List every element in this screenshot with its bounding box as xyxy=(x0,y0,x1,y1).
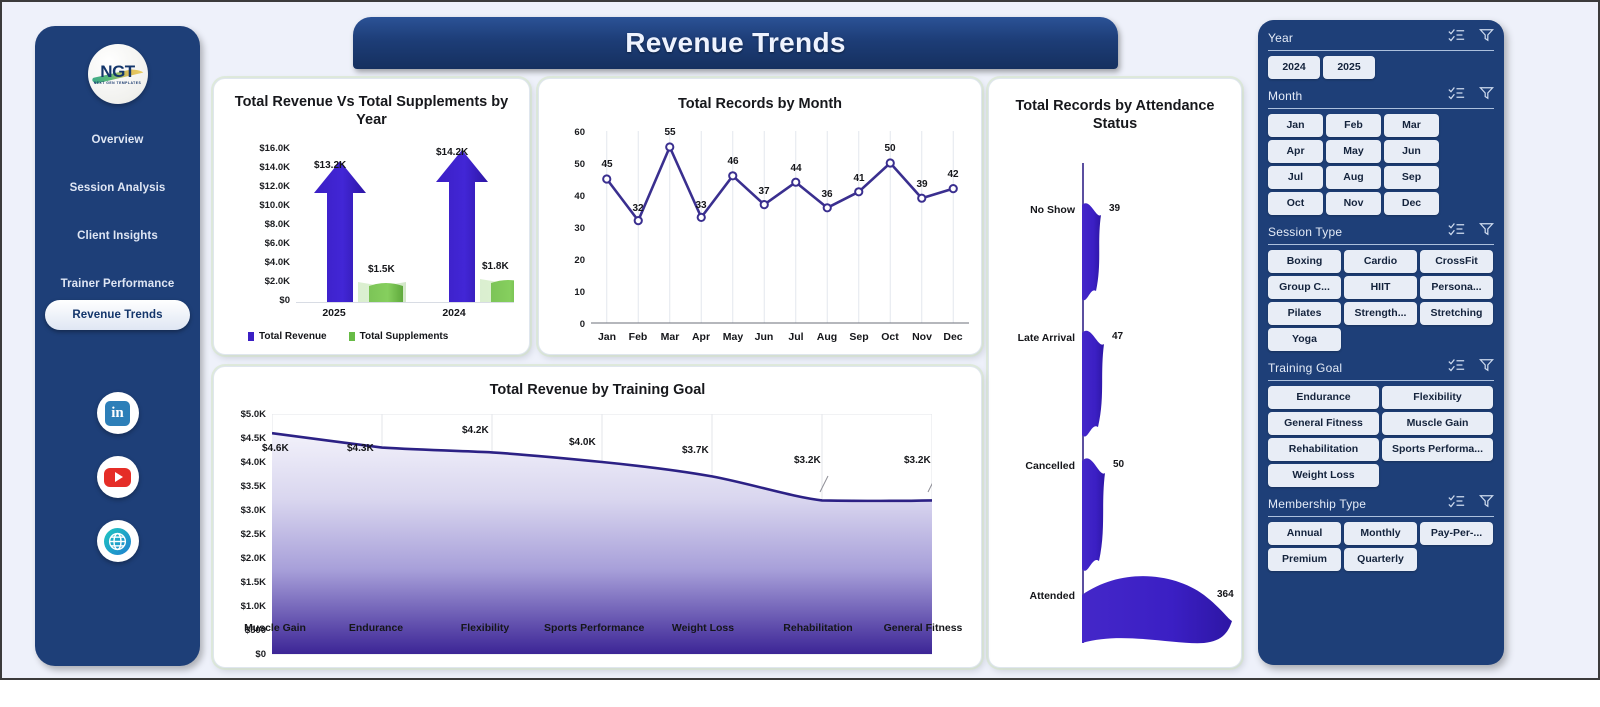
point-value-label: 44 xyxy=(785,163,807,174)
chart-title-attendance-status: Total Records by Attendance Status xyxy=(989,97,1241,133)
filter-chip-year[interactable]: 2025 xyxy=(1323,56,1375,79)
x-category-label: Mar xyxy=(655,331,685,343)
filter-chip-session-type[interactable]: Group C... xyxy=(1268,276,1341,299)
filter-header-month: Month xyxy=(1268,86,1494,109)
x-category-label: Rehabilitation xyxy=(763,622,873,634)
x-category-label: Sep xyxy=(844,331,874,343)
legend-item-total-supplements[interactable]: Total Supplements xyxy=(349,331,449,342)
filter-chip-session-type[interactable]: CrossFit xyxy=(1420,250,1493,273)
y-category-label: No Show xyxy=(995,204,1075,216)
filter-chip-session-type[interactable]: Cardio xyxy=(1344,250,1417,273)
filter-chip-membership-type[interactable]: Quarterly xyxy=(1344,548,1417,571)
filter-title-training-goal: Training Goal xyxy=(1268,361,1342,375)
point-value-label: 41 xyxy=(848,173,870,184)
filter-chip-training-goal[interactable]: Endurance xyxy=(1268,386,1379,409)
chart-card-records-by-month: Total Records by Month 60 50 40 30 20 10… xyxy=(538,78,982,355)
clear-filter-icon[interactable] xyxy=(1479,494,1494,513)
filter-header-training-goal: Training Goal xyxy=(1268,358,1494,381)
filter-header-membership-type: Membership Type xyxy=(1268,494,1494,517)
filter-chip-month[interactable]: Mar xyxy=(1384,114,1439,137)
filter-chip-membership-type[interactable]: Premium xyxy=(1268,548,1341,571)
y-tick: $3.5K xyxy=(216,481,266,492)
filter-header-year: Year xyxy=(1268,28,1494,51)
bar-value-label: 50 xyxy=(1113,459,1124,470)
y-tick: $4.0K xyxy=(228,257,290,268)
y-tick: $0 xyxy=(216,649,266,660)
filter-chip-month[interactable]: Nov xyxy=(1326,192,1381,215)
filter-title-session-type: Session Type xyxy=(1268,225,1342,239)
y-category-label: Attended xyxy=(995,590,1075,602)
y-tick: 60 xyxy=(545,127,585,138)
filter-options-membership-type: Annual Monthly Pay-Per-... Premium Quart… xyxy=(1268,522,1494,571)
bar-value-label: 364 xyxy=(1217,589,1234,600)
bar-value-label: 47 xyxy=(1112,331,1123,342)
point-value-label: 33 xyxy=(690,200,712,211)
chart-title-revenue-by-training-goal: Total Revenue by Training Goal xyxy=(214,381,981,399)
multi-select-icon[interactable] xyxy=(1448,222,1465,241)
point-value-label: $4.3K xyxy=(347,443,374,454)
point-value-label: 50 xyxy=(879,143,901,154)
filter-title-year: Year xyxy=(1268,31,1293,45)
linkedin-glyph: in xyxy=(105,401,130,426)
filter-header-session-type: Session Type xyxy=(1268,222,1494,245)
y-category-label: Cancelled xyxy=(995,460,1075,472)
filter-chip-training-goal[interactable]: Flexibility xyxy=(1382,386,1493,409)
filter-chip-month[interactable]: May xyxy=(1326,140,1381,163)
filter-chip-membership-type[interactable]: Monthly xyxy=(1344,522,1417,545)
x-category-label: Jul xyxy=(781,331,811,343)
filter-panel: Year 2024 2025 Month xyxy=(1258,20,1504,665)
y-tick: $4.5K xyxy=(216,433,266,444)
y-tick: $1.0K xyxy=(216,601,266,612)
clear-filter-icon[interactable] xyxy=(1479,222,1494,241)
legend-label: Total Supplements xyxy=(360,331,449,342)
y-tick: $2.5K xyxy=(216,529,266,540)
chart-legend: Total Revenue Total Supplements xyxy=(248,331,448,342)
y-tick: 30 xyxy=(545,223,585,234)
youtube-glyph xyxy=(104,468,131,487)
app-logo: NGT NEXT GEN TEMPLATES xyxy=(88,44,148,104)
sidebar-item-client-insights[interactable]: Client Insights xyxy=(35,230,200,242)
bar-value-label: 39 xyxy=(1109,203,1120,214)
bar-value-label: $1.5K xyxy=(368,264,395,275)
y-tick: 10 xyxy=(545,287,585,298)
filter-chip-month[interactable]: Jan xyxy=(1268,114,1323,137)
x-category-label: Endurance xyxy=(327,622,425,634)
bar-value-label: $1.8K xyxy=(482,261,509,272)
x-category-label: 2024 xyxy=(424,307,484,319)
filter-chip-session-type[interactable]: Stretching xyxy=(1420,302,1493,325)
logo-subtext: NEXT GEN TEMPLATES xyxy=(94,81,142,85)
y-tick: $16.0K xyxy=(228,143,290,154)
point-value-label: 46 xyxy=(722,156,744,167)
point-value-label: 55 xyxy=(659,127,681,138)
filter-chip-session-type[interactable]: Strength... xyxy=(1344,302,1417,325)
legend-item-total-revenue[interactable]: Total Revenue xyxy=(248,331,327,342)
sidebar-item-session-analysis[interactable]: Session Analysis xyxy=(35,182,200,194)
multi-select-icon[interactable] xyxy=(1448,494,1465,513)
x-category-label: Muscle Gain xyxy=(226,622,324,634)
legend-swatch xyxy=(349,332,355,341)
filter-chip-membership-type[interactable]: Pay-Per-... xyxy=(1420,522,1493,545)
filter-chip-training-goal[interactable]: General Fitness xyxy=(1268,412,1379,435)
page-header: Revenue Trends xyxy=(353,17,1118,69)
filter-chip-month[interactable]: Jun xyxy=(1384,140,1439,163)
chart-card-revenue-vs-supplements: Total Revenue Vs Total Supplements by Ye… xyxy=(213,78,530,355)
y-tick: $5.0K xyxy=(216,409,266,420)
chart-title-records-by-month: Total Records by Month xyxy=(539,95,981,113)
point-value-label: 32 xyxy=(627,203,649,214)
x-category-label: Dec xyxy=(938,331,968,343)
point-value-label: $4.2K xyxy=(462,425,489,436)
website-icon[interactable] xyxy=(97,520,139,562)
sidebar: NGT NEXT GEN TEMPLATES Overview Session … xyxy=(35,26,200,666)
youtube-icon[interactable] xyxy=(97,456,139,498)
sidebar-item-revenue-trends[interactable]: Revenue Trends xyxy=(45,300,190,330)
filter-chip-month[interactable]: Aug xyxy=(1326,166,1381,189)
point-value-label: $3.7K xyxy=(682,445,709,456)
filter-chip-session-type[interactable]: Pilates xyxy=(1268,302,1341,325)
multi-select-icon[interactable] xyxy=(1448,28,1465,47)
y-tick: $2.0K xyxy=(228,276,290,287)
clear-filter-icon[interactable] xyxy=(1479,28,1494,47)
y-category-label: Late Arrival xyxy=(995,332,1075,344)
filter-chip-session-type[interactable]: Boxing xyxy=(1268,250,1341,273)
line-series xyxy=(591,131,969,327)
point-value-label: $3.2K xyxy=(904,455,931,466)
dashboard-inner: NGT NEXT GEN TEMPLATES Overview Session … xyxy=(10,8,1590,674)
y-tick: 50 xyxy=(545,159,585,170)
x-category-label: Jun xyxy=(749,331,779,343)
y-tick: $1.5K xyxy=(216,577,266,588)
filter-chip-training-goal[interactable]: Sports Performa... xyxy=(1382,438,1493,461)
filter-chip-month[interactable]: Dec xyxy=(1384,192,1439,215)
filter-chip-year[interactable]: 2024 xyxy=(1268,56,1320,79)
point-value-label: 39 xyxy=(911,179,933,190)
x-category-label: Flexibility xyxy=(436,622,534,634)
point-value-label: 42 xyxy=(942,169,964,180)
x-category-label: 2025 xyxy=(304,307,364,319)
multi-select-icon[interactable] xyxy=(1448,86,1465,105)
y-tick: $6.0K xyxy=(228,238,290,249)
multi-select-icon[interactable] xyxy=(1448,358,1465,377)
filter-chip-training-goal[interactable]: Muscle Gain xyxy=(1382,412,1493,435)
y-tick: 20 xyxy=(545,255,585,266)
y-tick: $0 xyxy=(228,295,290,306)
x-category-label: Weight Loss xyxy=(654,622,752,634)
sidebar-item-overview[interactable]: Overview xyxy=(35,134,200,146)
y-tick: $4.0K xyxy=(216,457,266,468)
filter-chip-session-type[interactable]: Yoga xyxy=(1268,328,1341,351)
y-tick: $12.0K xyxy=(228,181,290,192)
point-value-label: 37 xyxy=(753,186,775,197)
y-tick: $10.0K xyxy=(228,200,290,211)
clear-filter-icon[interactable] xyxy=(1479,86,1494,105)
filter-options-session-type: Boxing Cardio CrossFit Group C... HIIT P… xyxy=(1268,250,1494,351)
legend-swatch xyxy=(248,332,254,341)
point-value-label: 45 xyxy=(596,159,618,170)
x-category-label: Sports Performance xyxy=(544,622,642,634)
bar-value-label: $13.2K xyxy=(314,160,346,171)
x-category-label: May xyxy=(718,331,748,343)
filter-title-month: Month xyxy=(1268,89,1302,103)
filter-chip-training-goal[interactable]: Weight Loss xyxy=(1268,464,1379,487)
y-tick: $14.0K xyxy=(228,162,290,173)
filter-chip-month[interactable]: Feb xyxy=(1326,114,1381,137)
y-tick: 40 xyxy=(545,191,585,202)
dashboard-canvas: NGT NEXT GEN TEMPLATES Overview Session … xyxy=(0,0,1600,680)
flag-bars xyxy=(1082,163,1232,645)
y-tick: $8.0K xyxy=(228,219,290,230)
x-category-label: General Fitness xyxy=(869,622,977,634)
x-category-label: Feb xyxy=(623,331,653,343)
filter-chip-membership-type[interactable]: Annual xyxy=(1268,522,1341,545)
filter-chip-month[interactable]: Oct xyxy=(1268,192,1323,215)
point-value-label: $3.2K xyxy=(794,455,821,466)
filter-chip-month[interactable]: Apr xyxy=(1268,140,1323,163)
point-value-label: $4.6K xyxy=(262,443,289,454)
y-tick: $2.0K xyxy=(216,553,266,564)
point-value-label: $4.0K xyxy=(569,437,596,448)
filter-chip-session-type[interactable]: HIIT xyxy=(1344,276,1417,299)
bar-value-label: $14.2K xyxy=(436,147,468,158)
filter-options-year: 2024 2025 xyxy=(1268,56,1494,79)
linkedin-icon[interactable]: in xyxy=(97,392,139,434)
x-category-label: Nov xyxy=(907,331,937,343)
y-tick: $3.0K xyxy=(216,505,266,516)
x-category-label: Oct xyxy=(875,331,905,343)
x-category-label: Jan xyxy=(592,331,622,343)
sidebar-item-trainer-performance[interactable]: Trainer Performance xyxy=(35,278,200,290)
legend-label: Total Revenue xyxy=(259,331,327,342)
filter-chip-training-goal[interactable]: Rehabilitation xyxy=(1268,438,1379,461)
filter-options-training-goal: Endurance Flexibility General Fitness Mu… xyxy=(1268,386,1494,487)
x-category-label: Apr xyxy=(686,331,716,343)
chart-card-attendance-status: Total Records by Attendance Status No Sh… xyxy=(988,78,1242,668)
point-value-label: 36 xyxy=(816,189,838,200)
page-title: Revenue Trends xyxy=(625,27,846,59)
filter-options-month: Jan Feb Mar Apr May Jun Jul Aug Sep Oct … xyxy=(1268,114,1494,215)
clear-filter-icon[interactable] xyxy=(1479,358,1494,377)
chart-card-revenue-by-training-goal: Total Revenue by Training Goal $5.0K $4.… xyxy=(213,366,982,668)
filter-title-membership-type: Membership Type xyxy=(1268,497,1366,511)
x-category-label: Aug xyxy=(812,331,842,343)
filter-chip-month[interactable]: Sep xyxy=(1384,166,1439,189)
bars-group xyxy=(296,131,514,303)
logo-text: NGT xyxy=(100,63,134,80)
globe-glyph xyxy=(104,528,131,555)
filter-chip-month[interactable]: Jul xyxy=(1268,166,1323,189)
y-tick: 0 xyxy=(545,319,585,330)
filter-chip-session-type[interactable]: Persona... xyxy=(1420,276,1493,299)
chart-title-revenue-vs-supplements: Total Revenue Vs Total Supplements by Ye… xyxy=(214,93,529,129)
